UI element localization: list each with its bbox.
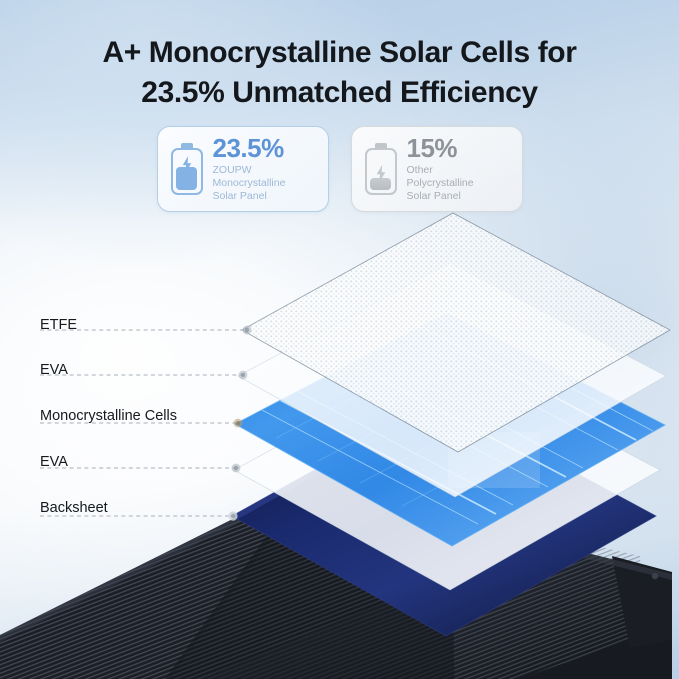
layer-label-group: ETFE EVA Monocrystalline Cells EVA Backs… (0, 0, 679, 679)
layer-label-backsheet: Backsheet (40, 501, 108, 516)
layer-label-eva-upper: EVA (40, 363, 68, 378)
layer-label-eva-lower: EVA (40, 455, 68, 470)
layer-label-etfe: ETFE (40, 318, 77, 333)
infographic-canvas: A+ Monocrystalline Solar Cells for 23.5%… (0, 0, 679, 679)
layer-label-monocrystalline-cells: Monocrystalline Cells (40, 409, 177, 424)
